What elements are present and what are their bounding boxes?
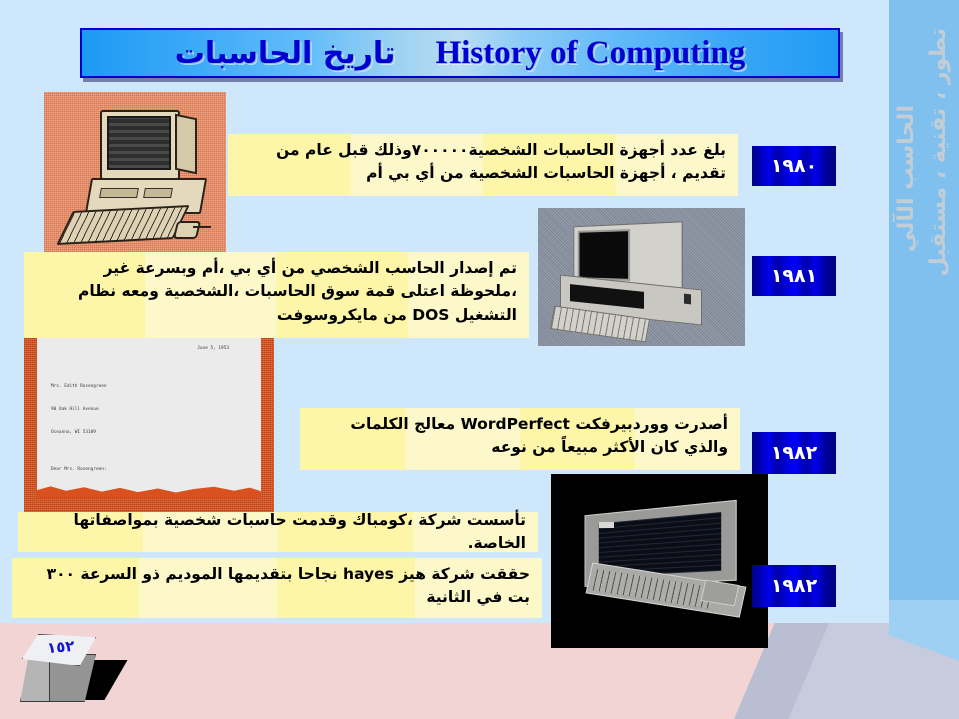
letter-address-line-3: Oceanna, WI 53109	[51, 429, 247, 437]
callout-wordperfect: أصدرت ووردبيرفكت WordPerfect معالج الكلم…	[300, 408, 740, 470]
portable-logo-badge	[599, 522, 614, 528]
sidebar-vertical-text-primary: تطور ، تقنية ، مستقبل	[926, 28, 951, 276]
image-printed-letter: June 5, 1953 Mrs. Edith Rosengreen 90 Oa…	[24, 308, 274, 513]
monitor-side	[175, 114, 197, 175]
title-english: History of Computing	[435, 35, 745, 72]
image-portable-computer	[551, 474, 768, 648]
callout-1980: بلغ عدد أجهزة الحاسبات الشخصية٧٠٠٠٠٠وذلك…	[228, 134, 738, 196]
letter-paper: June 5, 1953 Mrs. Edith Rosengreen 90 Oa…	[37, 320, 261, 498]
letter-address-line-1: Mrs. Edith Rosengreen	[51, 383, 247, 391]
year-badge-1981: ١٩٨١	[752, 256, 836, 296]
ibm-power-led	[684, 294, 691, 305]
slide-title-bar: History of Computing تاريخ الحاسبات	[80, 28, 840, 78]
slide-canvas: تطور ، تقنية ، مستقبل الحاسب الآلي Histo…	[0, 0, 959, 719]
keyboard	[56, 205, 189, 245]
letter-address-line-2: 90 Oak Hill Avenue	[51, 406, 247, 414]
letter-salutation: Dear Mrs. Rosengreen:	[51, 466, 247, 474]
callout-hayes-modem: حققت شركة هيز hayes نجاحا بتقديمها المود…	[12, 558, 542, 618]
monitor-screen	[107, 116, 171, 170]
year-badge-1982-wordperfect: ١٩٨٢	[752, 432, 836, 474]
callout-compaq: تأسست شركة ،كومباك وقدمت حاسبات شخصية بم…	[18, 512, 538, 552]
floppy-drive-slot-b	[143, 188, 173, 198]
page-number-keycap: ١٥٢	[18, 632, 122, 704]
floppy-drive-slot-a	[99, 188, 139, 198]
letter-body-text: June 5, 1953 Mrs. Edith Rosengreen 90 Oa…	[37, 320, 261, 498]
sidebar-gap	[860, 0, 889, 623]
page-number-label: ١٥٢	[47, 637, 76, 657]
image-desktop-computer	[44, 92, 226, 270]
sidebar-vertical-text-secondary: الحاسب الآلي	[894, 105, 919, 252]
mouse-cord	[193, 226, 211, 228]
ibm-monitor-screen	[578, 229, 630, 281]
mouse	[173, 221, 201, 239]
title-arabic: تاريخ الحاسبات	[175, 36, 396, 71]
year-badge-1980: ١٩٨٠	[752, 146, 836, 186]
callout-1981: تم إصدار الحاسب الشخصي من أي بي ،أم وبسر…	[24, 252, 529, 338]
sidebar-wedge	[889, 600, 959, 719]
year-badge-1982-hayes: ١٩٨٢	[752, 565, 836, 607]
image-ibm-personal-computer	[538, 208, 745, 346]
letter-date: June 5, 1953	[51, 345, 247, 353]
